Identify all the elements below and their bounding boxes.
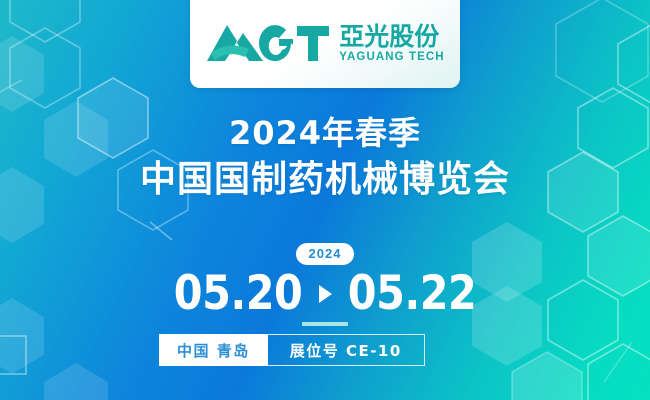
event-title-line-1: 2024年春季 xyxy=(0,116,650,152)
booth-number: 展位号 CE-10 xyxy=(268,334,425,366)
event-start-date: 05.20 xyxy=(174,270,303,317)
venue-info-bar: 中国 青岛 展位号 CE-10 xyxy=(159,334,425,366)
logo-company-name-cn: 亞光股份 xyxy=(339,24,444,49)
agt-logo-icon xyxy=(205,23,331,63)
exhibition-banner: 亞光股份 YAGUANG TECH 2024年春季 中国国制药机械博览会 202… xyxy=(0,0,650,400)
event-end-date: 05.22 xyxy=(347,270,476,317)
event-year-badge: 2024 xyxy=(296,243,355,265)
date-underline-rule xyxy=(302,322,348,326)
arrow-right-icon xyxy=(319,285,332,303)
venue-location: 中国 青岛 xyxy=(159,334,268,366)
logo-company-name-en: YAGUANG TECH xyxy=(339,52,444,64)
event-title: 2024年春季 中国国制药机械博览会 xyxy=(0,116,650,201)
event-date-range: 05.20 05.22 xyxy=(0,270,650,317)
event-date-block: 2024 05.20 05.22 xyxy=(0,243,650,326)
company-logo-plate: 亞光股份 YAGUANG TECH xyxy=(190,0,460,88)
event-title-line-2: 中国国制药机械博览会 xyxy=(0,158,650,201)
